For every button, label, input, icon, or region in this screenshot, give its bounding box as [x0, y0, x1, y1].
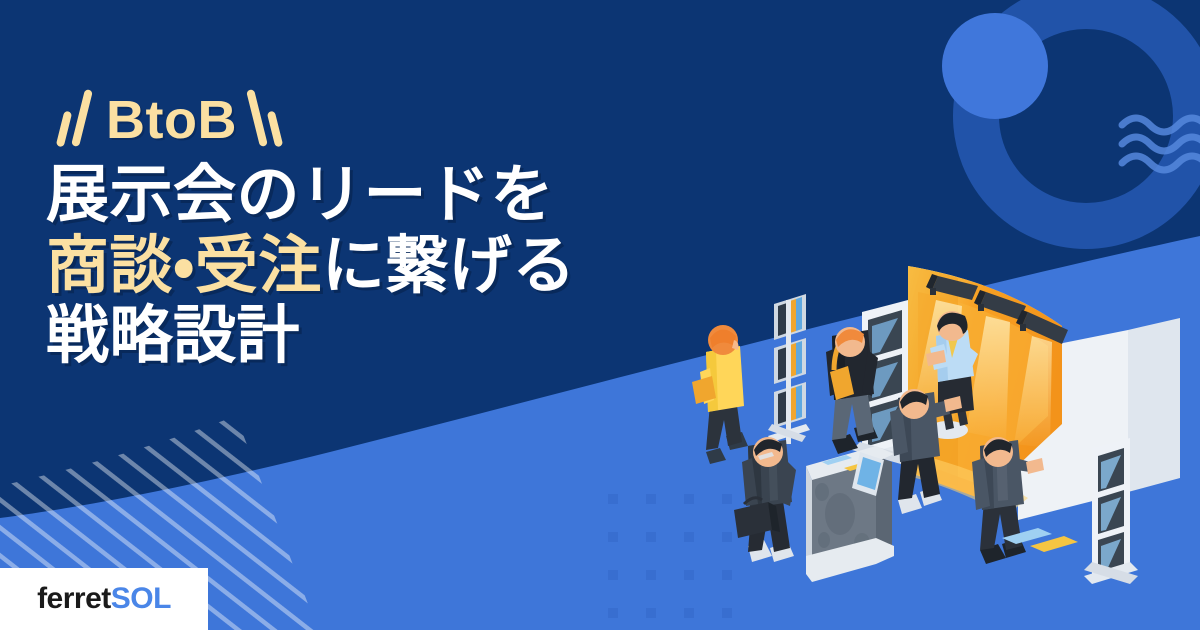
title-line-3-text: 戦略設計	[46, 299, 300, 372]
title-line-2-accent: 商談・受注	[46, 229, 322, 302]
double-slash-right-icon	[243, 87, 287, 153]
title-line-3: 戦略設計	[46, 301, 746, 372]
title-line-2: 商談・受注に繋げる	[46, 231, 746, 302]
logo-plate[interactable]: ferretSOL	[0, 568, 208, 630]
decor-circle	[942, 13, 1048, 119]
double-slash-left-icon	[52, 87, 96, 153]
headline-block: BtoB 展示会のリードを 商談・受注に繋げる 戦略設計	[46, 84, 746, 372]
kicker-label: BtoB	[96, 93, 243, 147]
title-line-1-text: 展示会のリードを	[46, 158, 554, 231]
decor-dot-grid	[598, 470, 758, 630]
banner-image: BtoB 展示会のリードを 商談・受注に繋げる 戦略設計 ferretSOL	[0, 0, 1200, 630]
kicker-row: BtoB	[52, 84, 746, 156]
brochure-rack-left	[768, 288, 810, 448]
logo-ferret-text: ferret	[37, 582, 111, 615]
poster-stand-right	[1084, 438, 1138, 584]
brand-logo: ferretSOL	[37, 584, 171, 614]
reception-counter	[806, 446, 894, 582]
page-title: 展示会のリードを 商談・受注に繋げる 戦略設計	[46, 160, 746, 372]
logo-sol-text: SOL	[111, 582, 171, 615]
title-line-2-rest: に繋げる	[322, 229, 576, 302]
title-line-1: 展示会のリードを	[46, 160, 746, 231]
